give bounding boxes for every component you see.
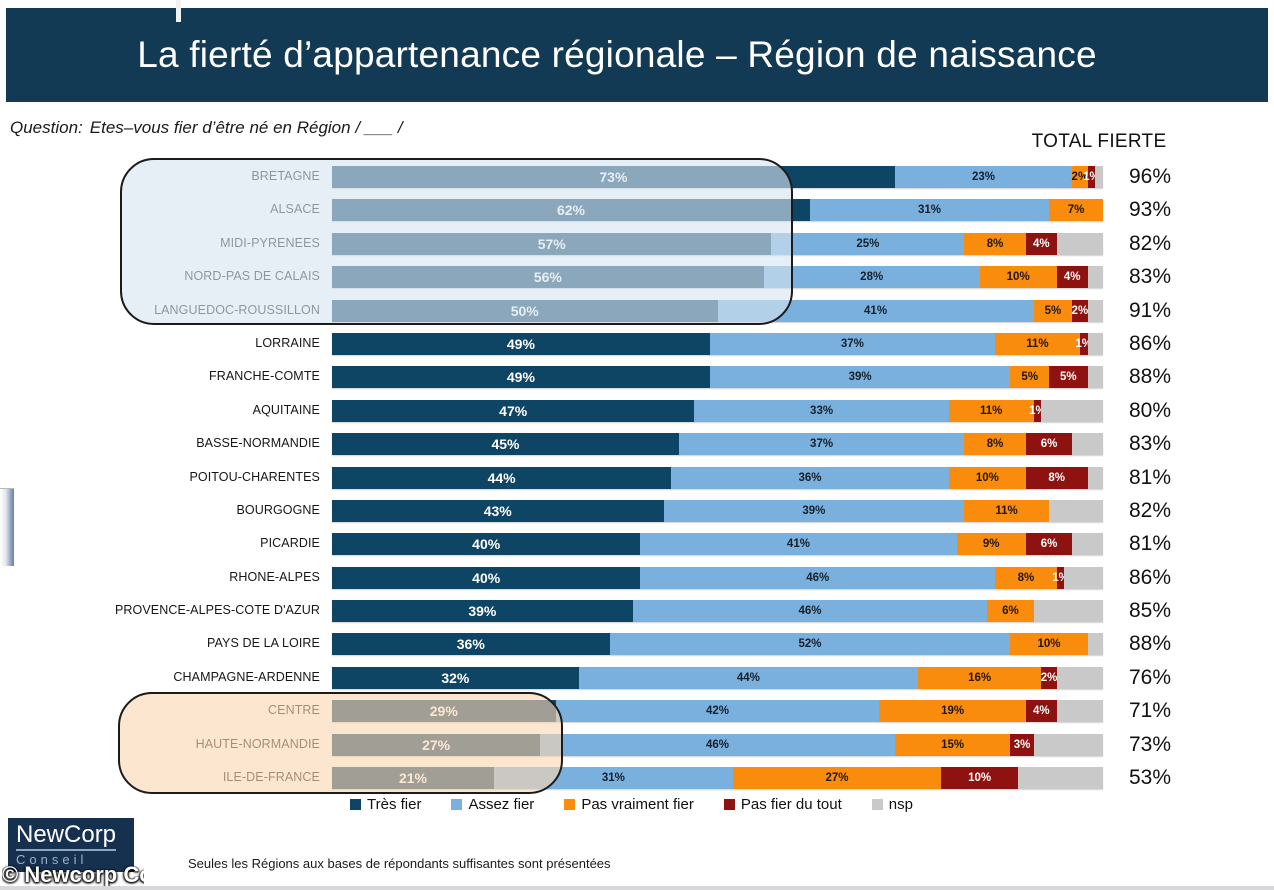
bar-segment-assez-fier: 39% <box>664 500 965 522</box>
bar-segment-nsp <box>1057 667 1103 689</box>
region-label: HAUTE-NORMANDIE <box>60 728 320 761</box>
segment-value-label: 57% <box>538 236 566 252</box>
bar-segment-très-fier: 47% <box>332 400 694 422</box>
legend-label: Pas fier du tout <box>741 796 842 813</box>
segment-value-label: 73% <box>599 169 627 185</box>
bar-segment-très-fier: 36% <box>332 633 610 655</box>
bar-segment-pas-fier-du-tout: 4% <box>1057 266 1088 288</box>
total-fierte-value: 88% <box>1110 627 1190 660</box>
bar-segment-pas-vraiment-fier: 19% <box>879 700 1025 722</box>
segment-value-label: 37% <box>841 338 864 350</box>
bar-segment-pas-vraiment-fier: 9% <box>957 533 1026 555</box>
segment-value-label: 41% <box>787 538 810 550</box>
segment-value-label: 31% <box>918 204 941 216</box>
bar-track: 32%44%16%2% <box>332 667 1103 689</box>
chart-row: MIDI-PYRENEES57%25%8%4%82% <box>0 227 1274 260</box>
legend-label: Très fier <box>367 796 421 813</box>
bar-segment-très-fier: 40% <box>332 567 640 589</box>
bar-segment-assez-fier: 31% <box>810 199 1049 221</box>
bar-segment-très-fier: 73% <box>332 166 895 188</box>
total-fierte-value: 71% <box>1110 694 1190 727</box>
bar-segment-pas-vraiment-fier: 15% <box>895 734 1011 756</box>
bar-segment-nsp <box>1095 166 1103 188</box>
bar-track: 40%46%8%1% <box>332 567 1103 589</box>
total-fierte-value: 82% <box>1110 227 1190 260</box>
region-label: LORRAINE <box>60 327 320 360</box>
question-label: Question: <box>10 118 83 137</box>
bar-track: 45%37%8%6% <box>332 433 1103 455</box>
legend-swatch-icon <box>350 799 361 810</box>
bar-segment-pas-vraiment-fier: 27% <box>733 767 941 789</box>
bar-segment-très-fier: 40% <box>332 533 640 555</box>
bar-segment-très-fier: 49% <box>332 366 710 388</box>
segment-value-label: 5% <box>1060 371 1077 383</box>
bar-segment-nsp <box>1034 600 1103 622</box>
chart-legend: Très fierAssez fierPas vraiment fierPas … <box>350 796 913 813</box>
segment-value-label: 23% <box>972 171 995 183</box>
chart-row: LORRAINE49%37%11%1%86% <box>0 327 1274 360</box>
legend-label: Pas vraiment fier <box>581 796 694 813</box>
segment-value-label: 10% <box>1007 271 1030 283</box>
bar-segment-pas-fier-du-tout: 1% <box>1034 400 1042 422</box>
chart-row: CENTRE29%42%19%4%71% <box>0 694 1274 727</box>
bar-segment-assez-fier: 46% <box>540 734 895 756</box>
bar-segment-pas-fier-du-tout: 1% <box>1057 567 1065 589</box>
bar-segment-nsp <box>1072 533 1103 555</box>
bar-segment-nsp <box>1034 734 1103 756</box>
region-label: BASSE-NORMANDIE <box>60 427 320 460</box>
bar-segment-très-fier: 27% <box>332 734 540 756</box>
bar-segment-pas-fier-du-tout: 6% <box>1026 433 1072 455</box>
bar-segment-pas-vraiment-fier: 10% <box>980 266 1057 288</box>
segment-value-label: 50% <box>511 303 539 319</box>
bar-segment-pas-vraiment-fier: 7% <box>1049 199 1103 221</box>
total-fierte-value: 83% <box>1110 427 1190 460</box>
total-fierte-value: 88% <box>1110 360 1190 393</box>
segment-value-label: 10% <box>968 772 991 784</box>
bar-segment-pas-vraiment-fier: 8% <box>995 567 1057 589</box>
segment-value-label: 4% <box>1033 705 1050 717</box>
bar-segment-pas-fier-du-tout: 3% <box>1010 734 1033 756</box>
bar-track: 21%31%27%10% <box>332 767 1103 789</box>
segment-value-label: 36% <box>798 472 821 484</box>
region-label: CENTRE <box>60 694 320 727</box>
chart-row: CHAMPAGNE-ARDENNE32%44%16%2%76% <box>0 661 1274 694</box>
segment-value-label: 44% <box>488 470 516 486</box>
segment-value-label: 56% <box>534 269 562 285</box>
segment-value-label: 49% <box>507 336 535 352</box>
total-fierte-value: 73% <box>1110 728 1190 761</box>
bar-segment-pas-vraiment-fier: 16% <box>918 667 1041 689</box>
segment-value-label: 37% <box>810 438 833 450</box>
bar-track: 49%37%11%1% <box>332 333 1103 355</box>
chart-row: PROVENCE-ALPES-COTE D'AZUR39%46%6%85% <box>0 594 1274 627</box>
bar-segment-pas-fier-du-tout: 5% <box>1049 366 1088 388</box>
segment-value-label: 45% <box>491 436 519 452</box>
bar-segment-très-fier: 44% <box>332 467 671 489</box>
bar-segment-assez-fier: 23% <box>895 166 1072 188</box>
legend-label: Assez fier <box>468 796 534 813</box>
segment-value-label: 27% <box>422 737 450 753</box>
segment-value-label: 6% <box>1041 538 1058 550</box>
bar-segment-nsp <box>1088 266 1103 288</box>
bar-segment-très-fier: 43% <box>332 500 664 522</box>
bar-track: 39%46%6% <box>332 600 1103 622</box>
bar-segment-pas-fier-du-tout: 6% <box>1026 533 1072 555</box>
region-label: BOURGOGNE <box>60 494 320 527</box>
segment-value-label: 44% <box>737 672 760 684</box>
bar-segment-très-fier: 56% <box>332 266 764 288</box>
chart-row: RHONE-ALPES40%46%8%1%86% <box>0 561 1274 594</box>
segment-value-label: 62% <box>557 202 585 218</box>
bar-segment-nsp <box>1041 400 1103 422</box>
segment-value-label: 8% <box>1048 472 1065 484</box>
bar-segment-nsp <box>1057 700 1103 722</box>
bar-segment-nsp <box>1018 767 1103 789</box>
copyright-watermark: © Newcorp Co <box>2 862 144 888</box>
total-fierte-value: 53% <box>1110 761 1190 794</box>
bar-segment-assez-fier: 37% <box>679 433 964 455</box>
bar-track: 47%33%11%1% <box>332 400 1103 422</box>
total-fierte-value: 96% <box>1110 160 1190 193</box>
segment-value-label: 2% <box>1072 305 1089 317</box>
region-label: ILE-DE-FRANCE <box>60 761 320 794</box>
bar-segment-très-fier: 39% <box>332 600 633 622</box>
bar-segment-assez-fier: 52% <box>610 633 1011 655</box>
bar-segment-pas-vraiment-fier: 10% <box>1010 633 1087 655</box>
bar-segment-très-fier: 57% <box>332 233 771 255</box>
bar-segment-pas-vraiment-fier: 8% <box>964 233 1026 255</box>
segment-value-label: 11% <box>1026 338 1048 350</box>
bar-segment-assez-fier: 37% <box>710 333 995 355</box>
segment-value-label: 52% <box>798 638 821 650</box>
total-fierte-value: 80% <box>1110 394 1190 427</box>
segment-value-label: 28% <box>860 271 883 283</box>
total-fierte-value: 86% <box>1110 327 1190 360</box>
segment-value-label: 33% <box>810 405 833 417</box>
segment-value-label: 2% <box>1041 672 1058 684</box>
bar-segment-assez-fier: 42% <box>556 700 880 722</box>
region-label: PROVENCE-ALPES-COTE D'AZUR <box>60 594 320 627</box>
bar-segment-assez-fier: 44% <box>579 667 918 689</box>
bar-track: 29%42%19%4% <box>332 700 1103 722</box>
segment-value-label: 40% <box>472 570 500 586</box>
question-text: Etes–vous fier d’être né en Région / ___… <box>90 118 403 137</box>
bar-segment-assez-fier: 39% <box>710 366 1011 388</box>
segment-value-label: 47% <box>499 403 527 419</box>
page-title: La fierté d’appartenance régionale – Rég… <box>6 34 1268 76</box>
segment-value-label: 21% <box>399 770 427 786</box>
segment-value-label: 10% <box>976 472 999 484</box>
bar-segment-très-fier: 50% <box>332 300 718 322</box>
region-label: PAYS DE LA LOIRE <box>60 627 320 660</box>
bar-segment-assez-fier: 36% <box>671 467 949 489</box>
bar-segment-nsp <box>1088 633 1103 655</box>
segment-value-label: 41% <box>864 305 887 317</box>
chart-row: NORD-PAS DE CALAIS56%28%10%4%83% <box>0 260 1274 293</box>
segment-value-label: 46% <box>799 605 822 617</box>
total-fierte-value: 76% <box>1110 661 1190 694</box>
total-fierte-header: TOTAL FIERTE <box>1016 131 1182 153</box>
region-label: ALSACE <box>60 193 320 226</box>
segment-value-label: 36% <box>457 636 485 652</box>
total-fierte-value: 83% <box>1110 260 1190 293</box>
bar-segment-pas-fier-du-tout: 1% <box>1088 166 1096 188</box>
bar-segment-assez-fier: 25% <box>771 233 964 255</box>
bar-segment-très-fier: 45% <box>332 433 679 455</box>
legend-swatch-icon <box>872 799 883 810</box>
region-label: MIDI-PYRENEES <box>60 227 320 260</box>
segment-value-label: 32% <box>441 670 469 686</box>
segment-value-label: 39% <box>802 505 825 517</box>
region-label: CHAMPAGNE-ARDENNE <box>60 661 320 694</box>
segment-value-label: 11% <box>995 505 1017 517</box>
segment-value-label: 8% <box>987 238 1004 250</box>
segment-value-label: 8% <box>1018 572 1035 584</box>
chart-row: LANGUEDOC-ROUSSILLON50%41%5%2%91% <box>0 294 1274 327</box>
total-fierte-value: 91% <box>1110 294 1190 327</box>
bar-segment-pas-vraiment-fier: 11% <box>949 400 1034 422</box>
region-label: AQUITAINE <box>60 394 320 427</box>
segment-value-label: 46% <box>706 739 729 751</box>
bar-track: 43%39%11% <box>332 500 1103 522</box>
bar-segment-pas-vraiment-fier: 6% <box>987 600 1033 622</box>
bar-segment-pas-fier-du-tout: 4% <box>1026 700 1057 722</box>
bar-segment-pas-fier-du-tout: 4% <box>1026 233 1057 255</box>
segment-value-label: 7% <box>1068 204 1085 216</box>
bar-track: 27%46%15%3% <box>332 734 1103 756</box>
bar-segment-pas-fier-du-tout: 2% <box>1072 300 1087 322</box>
bar-segment-nsp <box>1088 366 1103 388</box>
bar-track: 57%25%8%4% <box>332 233 1103 255</box>
segment-value-label: 25% <box>856 238 879 250</box>
chart-row: FRANCHE-COMTE49%39%5%5%88% <box>0 360 1274 393</box>
legend-item: Très fier <box>350 796 421 813</box>
segment-value-label: 10% <box>1037 638 1060 650</box>
bar-segment-assez-fier: 46% <box>633 600 988 622</box>
segment-value-label: 8% <box>987 438 1004 450</box>
stacked-bar-chart: BRETAGNE73%23%2%1%96%ALSACE62%31%7%93%MI… <box>0 160 1274 794</box>
chart-row: AQUITAINE47%33%11%1%80% <box>0 394 1274 427</box>
bottom-divider <box>0 886 1274 890</box>
chart-row: POITOU-CHARENTES44%36%10%8%81% <box>0 461 1274 494</box>
segment-value-label: 16% <box>968 672 991 684</box>
bar-segment-assez-fier: 33% <box>694 400 948 422</box>
bar-track: 44%36%10%8% <box>332 467 1103 489</box>
region-label: RHONE-ALPES <box>60 561 320 594</box>
region-label: NORD-PAS DE CALAIS <box>60 260 320 293</box>
segment-value-label: 3% <box>1014 739 1031 751</box>
region-label: LANGUEDOC-ROUSSILLON <box>60 294 320 327</box>
bar-segment-pas-vraiment-fier: 8% <box>964 433 1026 455</box>
segment-value-label: 4% <box>1064 271 1081 283</box>
segment-value-label: 43% <box>484 503 512 519</box>
segment-value-label: 4% <box>1033 238 1050 250</box>
slide-canvas: La fierté d’appartenance régionale – Rég… <box>0 0 1274 890</box>
bar-segment-nsp <box>1049 500 1103 522</box>
segment-value-label: 46% <box>806 572 829 584</box>
slide-header: La fierté d’appartenance régionale – Rég… <box>6 8 1268 102</box>
region-label: PICARDIE <box>60 527 320 560</box>
bar-segment-très-fier: 32% <box>332 667 579 689</box>
bar-segment-assez-fier: 41% <box>640 533 956 555</box>
bar-segment-très-fier: 49% <box>332 333 710 355</box>
bar-segment-pas-vraiment-fier: 5% <box>1034 300 1073 322</box>
bar-segment-assez-fier: 41% <box>718 300 1034 322</box>
chart-row: HAUTE-NORMANDIE27%46%15%3%73% <box>0 728 1274 761</box>
segment-value-label: 42% <box>706 705 729 717</box>
question-line: Question:Etes–vous fier d’être né en Rég… <box>10 118 403 138</box>
segment-value-label: 39% <box>468 603 496 619</box>
legend-swatch-icon <box>451 799 462 810</box>
legend-item: Assez fier <box>451 796 534 813</box>
bar-segment-pas-vraiment-fier: 11% <box>995 333 1080 355</box>
chart-row: PAYS DE LA LOIRE36%52%10%88% <box>0 627 1274 660</box>
bar-segment-très-fier: 62% <box>332 199 810 221</box>
legend-label: nsp <box>889 796 913 813</box>
region-label: FRANCHE-COMTE <box>60 360 320 393</box>
bar-track: 56%28%10%4% <box>332 266 1103 288</box>
bar-segment-pas-vraiment-fier: 10% <box>949 467 1026 489</box>
chart-row: BOURGOGNE43%39%11%82% <box>0 494 1274 527</box>
bar-segment-pas-fier-du-tout: 10% <box>941 767 1018 789</box>
segment-value-label: 19% <box>941 705 964 717</box>
chart-row: BRETAGNE73%23%2%1%96% <box>0 160 1274 193</box>
segment-value-label: 29% <box>430 703 458 719</box>
legend-swatch-icon <box>724 799 735 810</box>
segment-value-label: 27% <box>825 772 848 784</box>
segment-value-label: 15% <box>941 739 964 751</box>
total-fierte-value: 86% <box>1110 561 1190 594</box>
legend-swatch-icon <box>564 799 575 810</box>
segment-value-label: 31% <box>602 772 625 784</box>
bar-segment-pas-vraiment-fier: 5% <box>1010 366 1049 388</box>
chart-row: BASSE-NORMANDIE45%37%8%6%83% <box>0 427 1274 460</box>
total-fierte-value: 85% <box>1110 594 1190 627</box>
bar-track: 49%39%5%5% <box>332 366 1103 388</box>
bar-segment-nsp <box>1088 467 1103 489</box>
segment-value-label: 5% <box>1045 305 1062 317</box>
bar-segment-nsp <box>1088 333 1103 355</box>
header-artifact <box>176 0 181 22</box>
bar-track: 36%52%10% <box>332 633 1103 655</box>
bar-track: 73%23%2%1% <box>332 166 1103 188</box>
segment-value-label: 6% <box>1002 605 1019 617</box>
bar-segment-nsp <box>1072 433 1103 455</box>
chart-row: ALSACE62%31%7%93% <box>0 193 1274 226</box>
segment-value-label: 9% <box>983 538 1000 550</box>
bar-segment-assez-fier: 28% <box>764 266 980 288</box>
bar-segment-pas-vraiment-fier: 11% <box>964 500 1049 522</box>
bar-segment-assez-fier: 46% <box>640 567 995 589</box>
total-fierte-value: 81% <box>1110 527 1190 560</box>
segment-value-label: 6% <box>1041 438 1058 450</box>
segment-value-label: 11% <box>980 405 1002 417</box>
bar-track: 40%41%9%6% <box>332 533 1103 555</box>
logo-name: NewCorp <box>16 822 116 851</box>
footnote-text: Seules les Régions aux bases de répondan… <box>188 856 611 871</box>
legend-item: nsp <box>872 796 913 813</box>
segment-value-label: 5% <box>1021 371 1038 383</box>
region-label: POITOU-CHARENTES <box>60 461 320 494</box>
segment-value-label: 49% <box>507 369 535 385</box>
bar-segment-nsp <box>1064 567 1103 589</box>
bar-track: 50%41%5%2% <box>332 300 1103 322</box>
total-fierte-value: 81% <box>1110 461 1190 494</box>
chart-row: ILE-DE-FRANCE21%31%27%10%53% <box>0 761 1274 794</box>
chart-row: PICARDIE40%41%9%6%81% <box>0 527 1274 560</box>
legend-item: Pas vraiment fier <box>564 796 694 813</box>
bar-segment-nsp <box>1088 300 1103 322</box>
region-label: BRETAGNE <box>60 160 320 193</box>
bar-segment-pas-fier-du-tout: 2% <box>1041 667 1056 689</box>
bar-segment-très-fier: 29% <box>332 700 556 722</box>
segment-value-label: 40% <box>472 536 500 552</box>
bar-segment-pas-fier-du-tout: 1% <box>1080 333 1088 355</box>
total-fierte-value: 93% <box>1110 193 1190 226</box>
segment-value-label: 39% <box>849 371 872 383</box>
legend-item: Pas fier du tout <box>724 796 842 813</box>
bar-segment-pas-fier-du-tout: 8% <box>1026 467 1088 489</box>
bar-segment-très-fier: 21% <box>332 767 494 789</box>
bar-segment-assez-fier: 31% <box>494 767 733 789</box>
bar-track: 62%31%7% <box>332 199 1103 221</box>
bar-segment-nsp <box>1057 233 1103 255</box>
total-fierte-value: 82% <box>1110 494 1190 527</box>
window-edge-artifact <box>0 488 14 566</box>
